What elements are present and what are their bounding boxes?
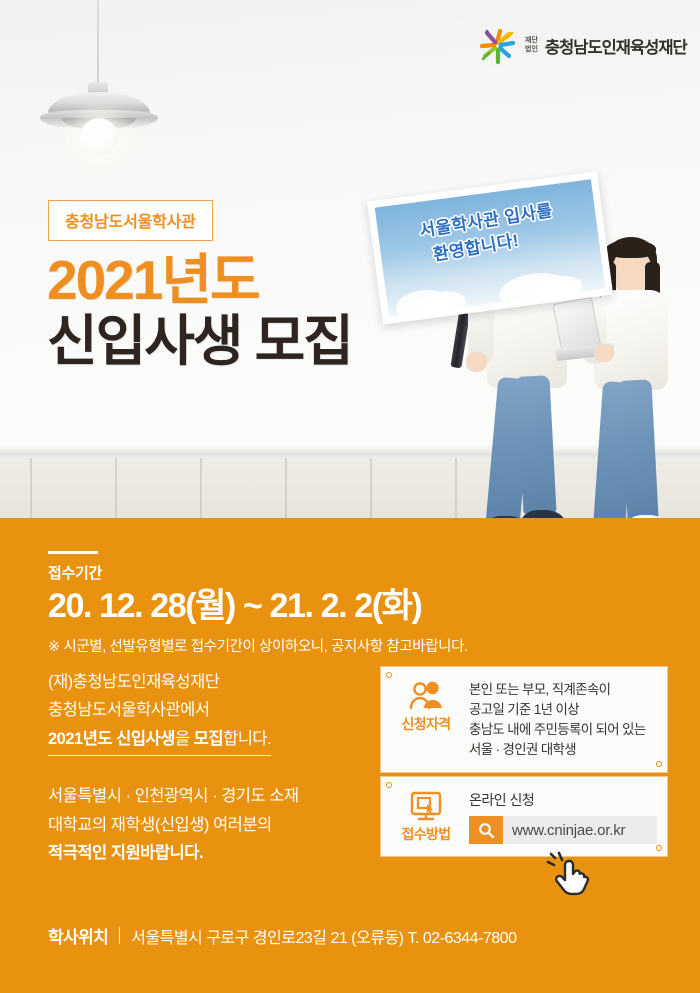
footer-label: 학사위치 bbox=[48, 923, 108, 948]
intro-copy-block: (재)충청남도인재육성재단 충청남도서울학사관에서 2021년도 신입사생을 모… bbox=[48, 668, 368, 867]
method-text: 온라인 신청 www.cninjae.or.kr bbox=[469, 789, 657, 844]
info-panel: 접수기간 20. 12. 28(월) ~ 21. 2. 2(화) ※ 시군별, … bbox=[0, 518, 700, 993]
card-corner-dot bbox=[656, 761, 662, 767]
qualification-label: 신청자격 bbox=[401, 716, 450, 732]
wainscot-groove bbox=[30, 458, 32, 522]
qualification-line: 충남도 내에 주민등록이 되어 있는 bbox=[469, 720, 657, 740]
card-corner-dot bbox=[386, 672, 392, 678]
intro-line-1: (재)충청남도인재육성재단 bbox=[48, 668, 368, 696]
intro-line-5: 대학교의 재학생(신입생) 여러분의 bbox=[48, 811, 368, 839]
intro-line-4: 서울특별시 · 인천광역시 · 경기도 소재 bbox=[48, 782, 368, 810]
pointing-hand-cursor-icon bbox=[545, 848, 601, 904]
qualification-text: 본인 또는 부모, 직계존속이 공고일 기준 1년 이상 충남도 내에 주민등록… bbox=[469, 679, 657, 760]
intro-line-2: 충청남도서울학사관에서 bbox=[48, 696, 368, 724]
intro-line-6: 적극적인 지원바랍니다. bbox=[48, 839, 368, 867]
magnifier-icon bbox=[478, 822, 495, 839]
application-method-card: 접수방법 온라인 신청 www.cninjae.or.kr bbox=[380, 776, 668, 857]
logo-subtext-line1: 재단 bbox=[525, 37, 538, 46]
page-title: 2021년도 신입사생 모집 bbox=[47, 252, 447, 370]
method-icon-column: 접수방법 bbox=[393, 789, 459, 844]
hero-scene: 서울학사관 입사를 환영합니다! 충청남도서울학사관 2021년도 신입사생 모… bbox=[0, 0, 700, 522]
wainscot-groove bbox=[370, 458, 372, 522]
intro-spacer bbox=[48, 756, 368, 782]
intro-line-3-highlight: 2021년도 신입사생 bbox=[48, 730, 175, 748]
footer-address: 학사위치 서울특별시 구로구 경인로23길 21 (오류동) T. 02-634… bbox=[48, 923, 516, 948]
poster-root: 서울학사관 입사를 환영합니다! 충청남도서울학사관 2021년도 신입사생 모… bbox=[0, 0, 700, 993]
monitor-cursor-icon bbox=[408, 791, 444, 821]
wainscot-groove bbox=[115, 458, 117, 522]
qualification-card: 신청자격 본인 또는 부모, 직계존속이 공고일 기준 1년 이상 충남도 내에… bbox=[380, 666, 668, 773]
application-period-block: 접수기간 20. 12. 28(월) ~ 21. 2. 2(화) ※ 시군별, … bbox=[48, 551, 608, 656]
wall-rail bbox=[0, 446, 700, 458]
search-button[interactable] bbox=[469, 816, 503, 844]
qualification-icon-column: 신청자격 bbox=[393, 679, 459, 734]
logo-name: 충청남도인재육성재단 bbox=[545, 34, 687, 58]
wainscot-groove bbox=[455, 458, 457, 522]
method-label: 접수방법 bbox=[401, 826, 450, 842]
title-main: 신입사생 모집 bbox=[47, 312, 447, 370]
intro-line-3-mid: 을 bbox=[175, 730, 194, 748]
foundation-logo: 재단 법인 충청남도인재육성재단 bbox=[478, 26, 687, 66]
organization-badge: 충청남도서울학사관 bbox=[48, 200, 213, 241]
period-rule-divider bbox=[48, 551, 98, 554]
wainscot-groove bbox=[285, 458, 287, 522]
footer-divider bbox=[119, 927, 120, 944]
logo-subtext-line2: 법인 bbox=[525, 46, 538, 55]
period-note: ※ 시군별, 선발유형별로 접수기간이 상이하오니, 공지사항 참고바랍니다. bbox=[48, 635, 608, 656]
intro-line-3: 2021년도 신입사생을 모집합니다. bbox=[48, 725, 368, 756]
intro-line-3-highlight2: 모집 bbox=[194, 730, 223, 748]
period-dates: 20. 12. 28(월) ~ 21. 2. 2(화) bbox=[48, 588, 608, 625]
two-people-icon bbox=[407, 681, 445, 711]
logo-subtext: 재단 법인 bbox=[525, 37, 538, 55]
method-title: 온라인 신청 bbox=[469, 790, 657, 810]
qualification-line: 본인 또는 부모, 직계존속이 bbox=[469, 680, 657, 700]
url-search-bar[interactable]: www.cninjae.or.kr bbox=[469, 816, 657, 844]
wainscot-groove bbox=[200, 458, 202, 522]
title-year: 2021년도 bbox=[47, 252, 447, 309]
lamp-bulb-icon bbox=[80, 118, 118, 156]
card-corner-dot bbox=[386, 782, 392, 788]
period-label: 접수기간 bbox=[48, 562, 608, 583]
qualification-line: 서울 · 경인권 대학생 bbox=[469, 740, 657, 760]
lamp-cord-icon bbox=[97, 0, 99, 86]
card-corner-dot bbox=[656, 845, 662, 851]
qualification-line: 공고일 기준 1년 이상 bbox=[469, 700, 657, 720]
website-url[interactable]: www.cninjae.or.kr bbox=[503, 816, 657, 844]
pinwheel-flower-logo-icon bbox=[478, 26, 518, 66]
footer-text: 서울특별시 구로구 경인로23길 21 (오류동) T. 02-6344-780… bbox=[131, 924, 516, 948]
intro-line-3-tail: 합니다. bbox=[223, 730, 271, 748]
